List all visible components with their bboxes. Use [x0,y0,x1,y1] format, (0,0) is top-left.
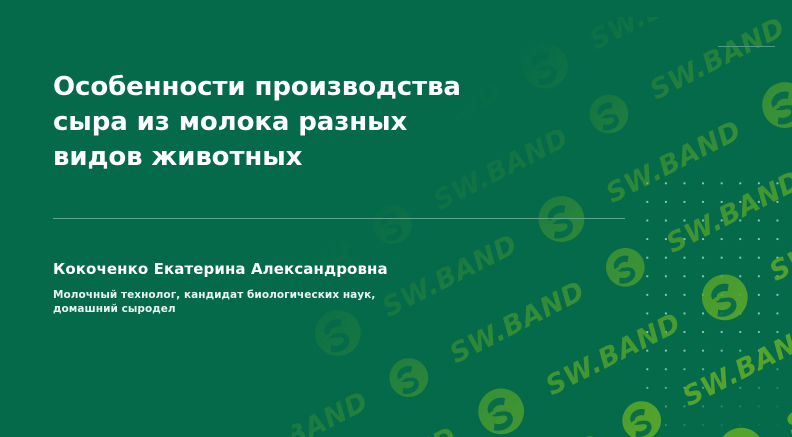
title-line: видов животных [53,140,523,175]
watermark-text: SW.BAND [782,348,792,437]
author-role-line: Молочный технолог, кандидат биологически… [53,288,473,302]
title-line: Особенности производства [53,70,523,105]
author-role-line: домашний сыродел [53,302,473,316]
accent-rule [718,46,775,47]
page-title: Особенности производства сыра из молока … [53,70,523,175]
author-name: Кокоченко Екатерина Александровна [53,260,388,279]
watermark-text: SW.BAND [646,13,789,104]
dot-grid-pattern [632,168,792,437]
sw-band-logo-icon [706,416,776,437]
sw-band-logo-icon [690,262,760,332]
sw-band-logo-icon [0,227,42,286]
title-slide: SW.BANDSW.BANDSW.BANDSW.BANDSW.BANDSW.BA… [0,0,792,437]
author-role: Молочный технолог, кандидат биологически… [53,288,473,316]
watermark-text: SW.BAND [662,167,792,258]
sw-band-logo-icon [750,70,792,140]
slide-content: Особенности производства сыра из молока … [53,0,653,437]
watermark-text: SW.BAND [765,195,792,286]
horizontal-divider [53,218,625,219]
watermark-text: SW.BAND [679,320,792,411]
title-line: сыра из молока разных [53,105,523,140]
